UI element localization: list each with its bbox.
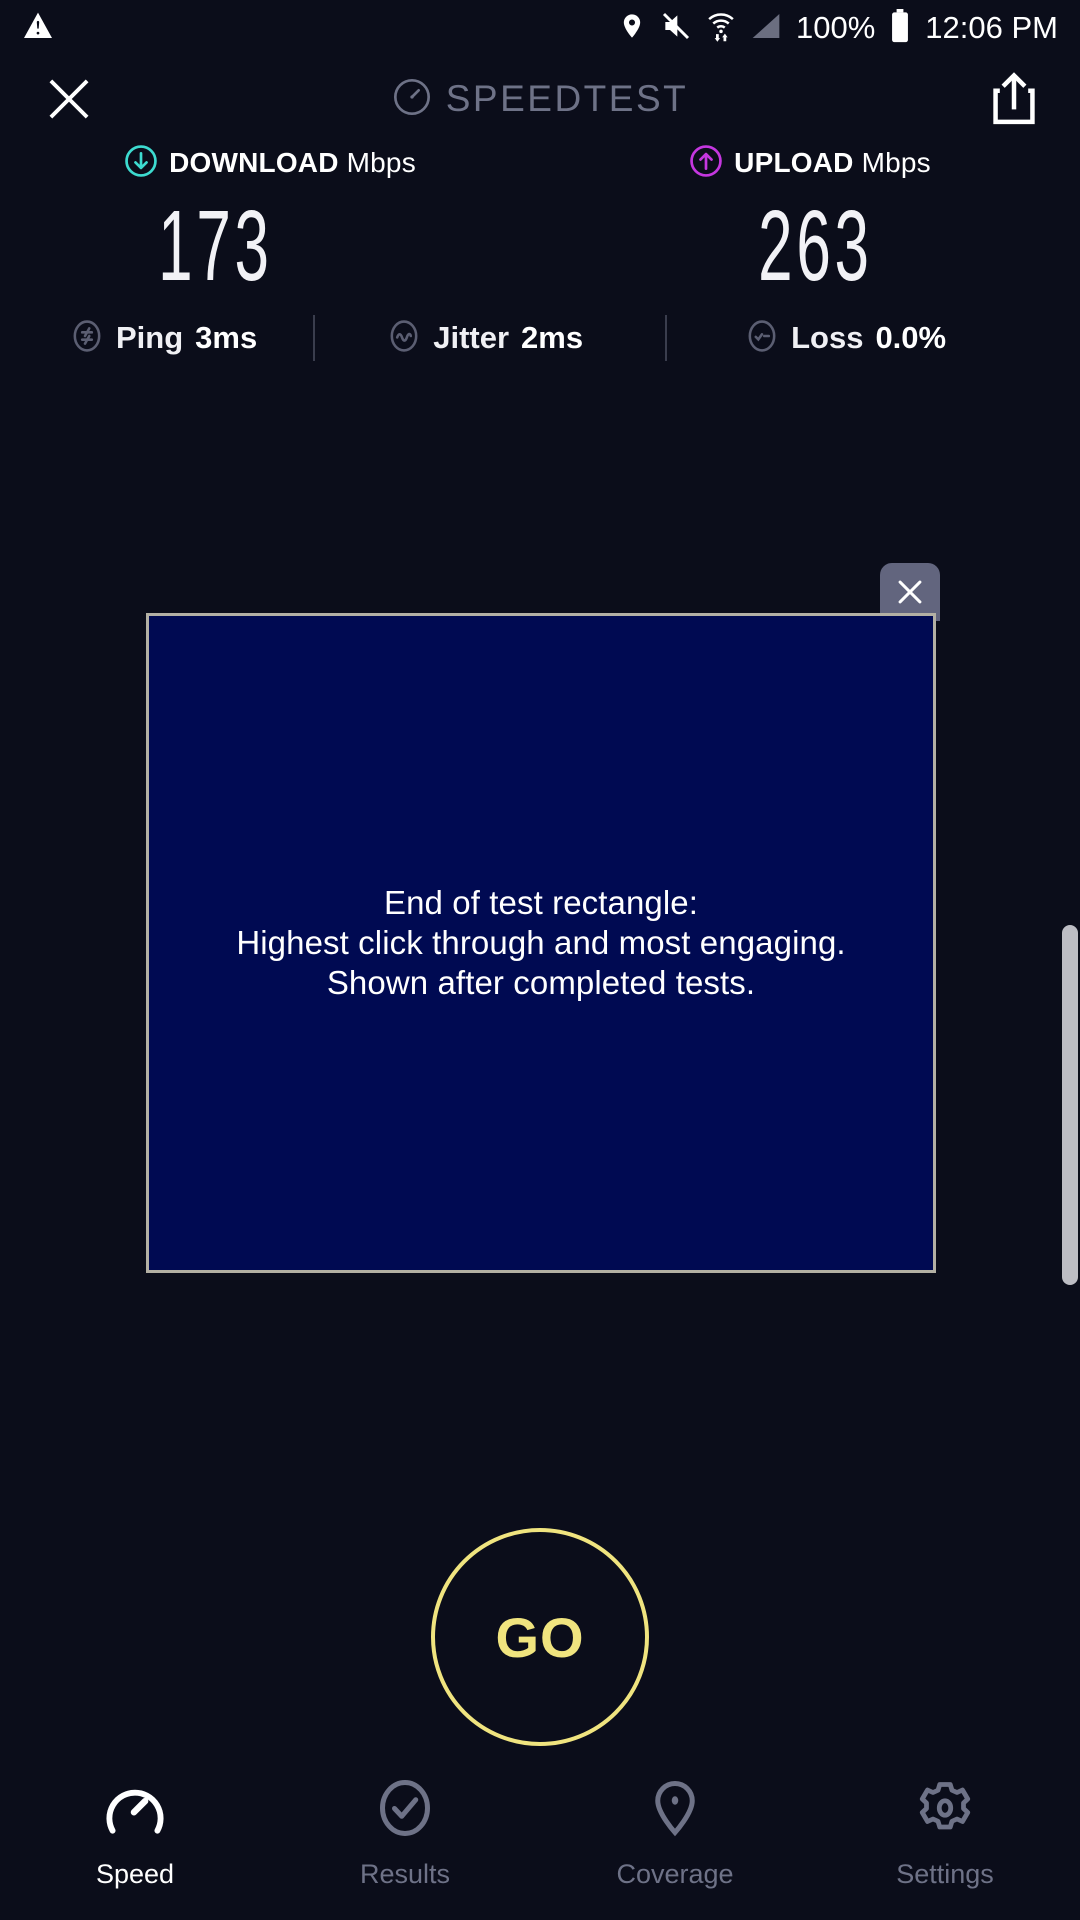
download-header: DOWNLOAD Mbps [124, 142, 416, 184]
gear-icon [913, 1778, 977, 1843]
ad-text: End of test rectangle: Highest click thr… [236, 883, 845, 1004]
battery-full-icon [889, 9, 911, 48]
share-icon [988, 70, 1040, 128]
metric-separator [313, 315, 315, 361]
upload-value: 263 [758, 196, 873, 296]
nav-label-results: Results [360, 1859, 450, 1890]
metric-loss: Loss 0.0% [745, 319, 946, 358]
check-circle-icon [373, 1778, 437, 1843]
location-pin-icon [643, 1778, 707, 1843]
brand: SPEEDTEST [0, 56, 1080, 142]
upload-label: UPLOAD Mbps [734, 147, 931, 179]
status-bar-left [22, 10, 54, 47]
nav-item-results[interactable]: Results [270, 1778, 540, 1890]
nav-label-settings: Settings [896, 1859, 994, 1890]
upload-header: UPLOAD Mbps [689, 142, 931, 184]
nav-label-speed: Speed [96, 1859, 174, 1890]
mute-bell-icon [660, 10, 692, 47]
status-bar: 100% 12:06 PM [0, 0, 1080, 56]
results-panel: DOWNLOAD Mbps 173 UPLOAD Mbps 263 [0, 142, 1080, 366]
metrics-row: Ping 3ms Jitter 2ms Los [0, 310, 1080, 366]
metric-ping-name: Ping [116, 320, 183, 356]
cellular-signal-icon [750, 11, 782, 46]
app-header: SPEEDTEST [0, 56, 1080, 142]
jitter-icon [387, 319, 421, 358]
metric-loss-value: 0.0% [875, 320, 946, 356]
nav-label-coverage: Coverage [616, 1859, 733, 1890]
location-pin-icon [618, 10, 646, 47]
close-icon [40, 70, 98, 128]
app-title: SPEEDTEST [446, 78, 689, 120]
vertical-scrollbar[interactable] [1062, 925, 1078, 1285]
metric-separator [665, 315, 667, 361]
close-button[interactable] [40, 70, 98, 128]
wifi-icon [706, 9, 736, 48]
ping-icon [70, 319, 104, 358]
metric-jitter-value: 2ms [521, 320, 583, 356]
download-value: 173 [158, 196, 273, 296]
warning-triangle-icon [22, 10, 54, 47]
status-bar-right: 100% 12:06 PM [618, 9, 1058, 48]
metric-jitter: Jitter 2ms [387, 319, 583, 358]
metric-ping-value: 3ms [195, 320, 257, 356]
upload-result: UPLOAD Mbps 263 [540, 142, 1080, 296]
go-button[interactable]: GO [431, 1528, 649, 1746]
download-result: DOWNLOAD Mbps 173 [0, 142, 540, 296]
upload-arrow-icon [689, 144, 723, 183]
speeds-row: DOWNLOAD Mbps 173 UPLOAD Mbps 263 [0, 142, 1080, 296]
download-arrow-icon [124, 144, 158, 183]
nav-item-speed[interactable]: Speed [0, 1778, 270, 1890]
go-button-label: GO [495, 1605, 584, 1670]
bottom-navigation: Speed Results Coverage Settings [0, 1768, 1080, 1920]
download-label: DOWNLOAD Mbps [169, 147, 416, 179]
speedometer-icon [103, 1778, 167, 1843]
battery-percent-label: 100% [796, 10, 875, 46]
nav-item-settings[interactable]: Settings [810, 1778, 1080, 1890]
status-clock: 12:06 PM [925, 10, 1058, 46]
advertisement-banner[interactable]: End of test rectangle: Highest click thr… [146, 613, 936, 1273]
nav-item-coverage[interactable]: Coverage [540, 1778, 810, 1890]
metric-ping: Ping 3ms [70, 319, 257, 358]
share-button[interactable] [988, 70, 1040, 128]
loss-icon [745, 319, 779, 358]
metric-loss-name: Loss [791, 320, 863, 356]
speedometer-icon [392, 77, 432, 122]
metric-jitter-name: Jitter [433, 320, 509, 356]
close-icon [893, 575, 927, 609]
